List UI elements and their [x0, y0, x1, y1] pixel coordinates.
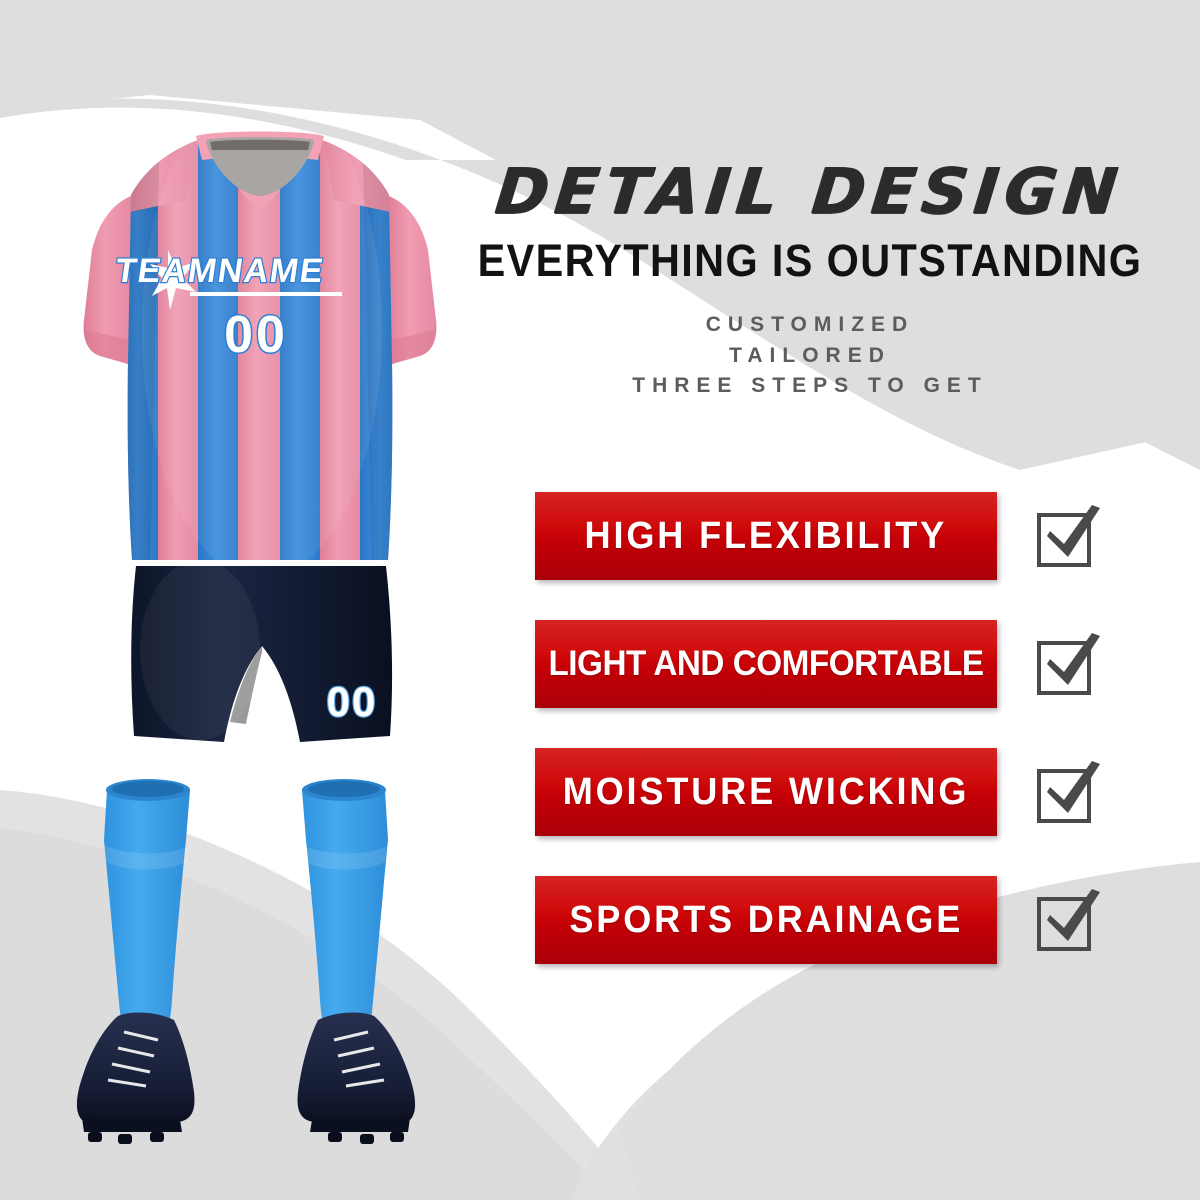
tagline-item: CUSTOMIZED — [430, 310, 1190, 340]
cleat-left-stud-2 — [118, 1134, 132, 1144]
collar-inner-shadow — [210, 140, 310, 150]
cleat-right-sole — [310, 1118, 410, 1132]
page-subtitle: EVERYTHING IS OUTSTANDING — [460, 237, 1159, 284]
jersey-number: 00 — [224, 306, 288, 364]
tagline-list: CUSTOMIZED TAILORED THREE STEPS TO GET — [430, 310, 1190, 401]
cleat-left — [77, 1013, 195, 1122]
cleat-left-stud-3 — [150, 1132, 164, 1142]
jersey: TEAMNAME 00 — [84, 80, 437, 580]
cleat-right-stud-2 — [360, 1134, 374, 1144]
feature-row: SPORTS DRAINAGE — [535, 876, 1095, 964]
feature-label: HIGH FLEXIBILITY — [585, 515, 947, 558]
feature-label: MOISTURE WICKING — [563, 771, 970, 814]
feature-row: HIGH FLEXIBILITY — [535, 492, 1095, 580]
checkbox-check-icon[interactable] — [1030, 498, 1106, 574]
cleat-left-stud-1 — [88, 1132, 102, 1142]
shorts-number: 00 — [327, 678, 378, 725]
cleat-right — [298, 1013, 416, 1122]
sock-left-opening-inner — [112, 781, 184, 797]
feature-banner[interactable]: SPORTS DRAINAGE — [535, 876, 997, 964]
sock-right — [302, 783, 388, 1053]
cleat-right-stud-1 — [390, 1132, 404, 1142]
socks — [104, 779, 388, 1052]
tagline-item: THREE STEPS TO GET — [430, 371, 1190, 401]
tagline-item: TAILORED — [430, 341, 1190, 371]
feature-row: MOISTURE WICKING — [535, 748, 1095, 836]
checkbox-check-icon[interactable] — [1030, 626, 1106, 702]
feature-banner[interactable]: MOISTURE WICKING — [535, 748, 997, 836]
feature-row: LIGHT AND COMFORTABLE — [535, 620, 1095, 708]
sock-right-opening-inner — [308, 781, 380, 797]
cleats — [77, 1013, 415, 1144]
feature-banner[interactable]: LIGHT AND COMFORTABLE — [535, 620, 997, 708]
feature-list: HIGH FLEXIBILITY LIGHT AND COMFORTABLE M… — [535, 492, 1095, 1004]
feature-banner[interactable]: HIGH FLEXIBILITY — [535, 492, 997, 580]
shorts: 00 — [131, 560, 392, 742]
headline-block: DETAIL DESIGN EVERYTHING IS OUTSTANDING … — [430, 160, 1190, 402]
checkbox-check-icon[interactable] — [1030, 754, 1106, 830]
sock-left — [104, 783, 190, 1053]
checkbox-check-icon[interactable] — [1030, 882, 1106, 958]
product-detail-poster: TEAMNAME 00 00 — [0, 0, 1200, 1200]
shorts-highlight — [140, 560, 260, 740]
feature-label: LIGHT AND COMFORTABLE — [548, 644, 983, 684]
jersey-name-underline — [190, 292, 342, 296]
cleat-left-sole — [82, 1118, 182, 1132]
page-title: DETAIL DESIGN — [427, 160, 1194, 223]
feature-label: SPORTS DRAINAGE — [569, 899, 963, 942]
cleat-right-stud-3 — [328, 1132, 342, 1142]
jersey-team-name: TEAMNAME — [113, 252, 327, 290]
